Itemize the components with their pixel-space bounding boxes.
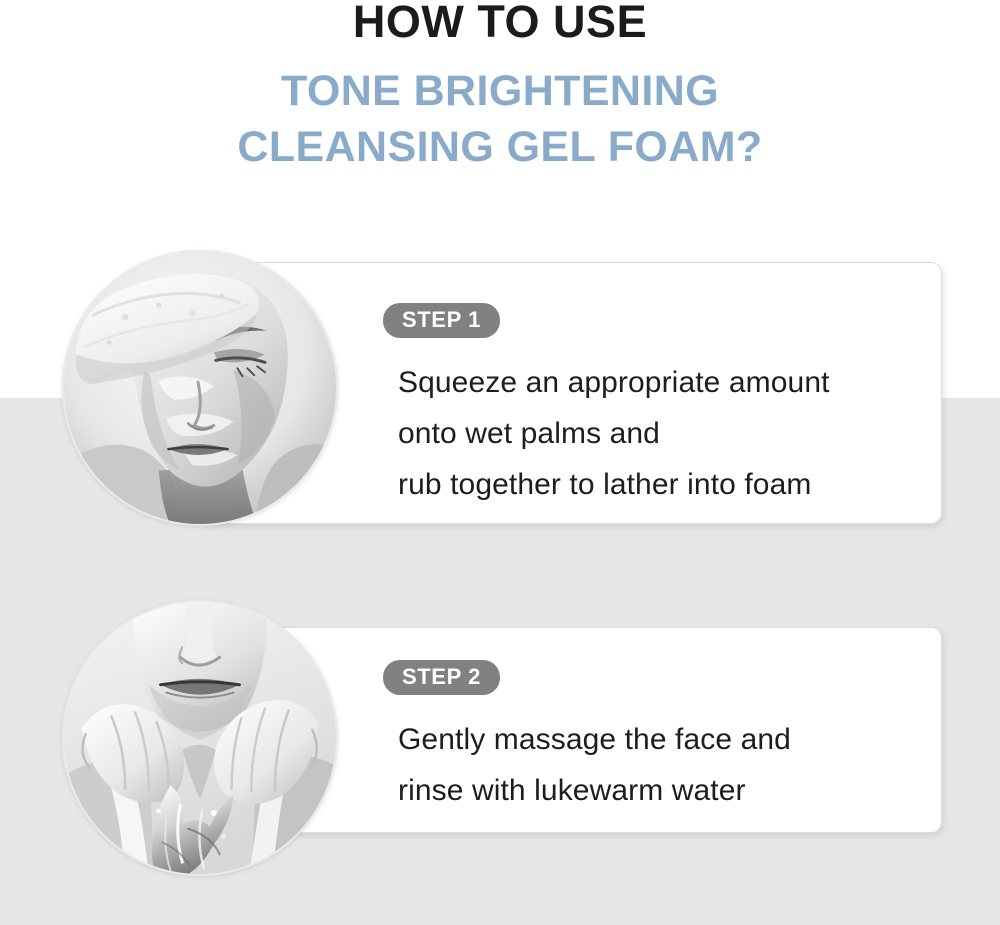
step-1-badge: STEP 1	[383, 303, 500, 338]
step-2-photo	[62, 600, 338, 876]
step-2-line-1: Gently massage the face and	[398, 714, 791, 765]
step-1-text-block: STEP 1 Squeeze an appropriate amount ont…	[383, 303, 830, 510]
step-1-photo	[62, 250, 338, 526]
step-2-instruction-lines: Gently massage the face and rinse with l…	[398, 714, 791, 816]
step-2-text-block: STEP 2 Gently massage the face and rinse…	[383, 660, 791, 816]
page-title: HOW TO USE TONE BRIGHTENING CLEANSING GE…	[0, 0, 1000, 175]
title-line-product-name-2: CLEANSING GEL FOAM?	[0, 119, 1000, 175]
step-1-line-3: rub together to lather into foam	[398, 459, 830, 510]
woman-rinsing-face-with-water-icon	[64, 602, 336, 874]
title-line-how-to-use: HOW TO USE	[0, 0, 1000, 45]
step-1-line-1: Squeeze an appropriate amount	[398, 357, 830, 408]
how-to-use-instruction-graphic: HOW TO USE TONE BRIGHTENING CLEANSING GE…	[0, 0, 1000, 925]
step-1-instruction-lines: Squeeze an appropriate amount onto wet p…	[398, 357, 830, 510]
title-line-product-name-1: TONE BRIGHTENING	[0, 63, 1000, 119]
woman-washing-face-with-foam-icon	[64, 252, 336, 524]
step-1-line-2: onto wet palms and	[398, 408, 830, 459]
step-2-line-2: rinse with lukewarm water	[398, 765, 791, 816]
step-2-badge: STEP 2	[383, 660, 500, 695]
